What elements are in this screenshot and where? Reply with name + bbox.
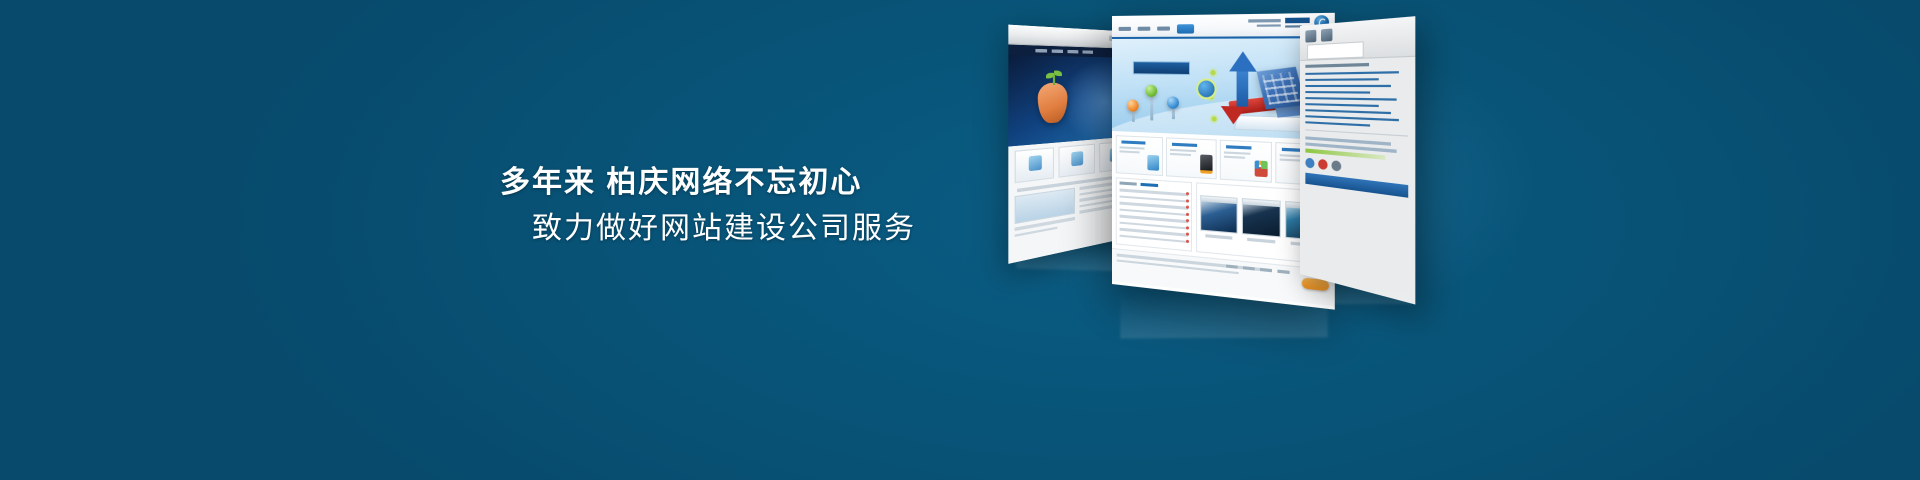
header-slogan bbox=[1248, 19, 1281, 27]
news-tabs bbox=[1120, 181, 1188, 189]
divider bbox=[1305, 129, 1408, 136]
case-item[interactable] bbox=[1242, 198, 1281, 243]
right-heading bbox=[1305, 63, 1369, 67]
text-line bbox=[1305, 97, 1396, 101]
hand-icon bbox=[1038, 83, 1068, 124]
down-arrow-icon bbox=[1221, 106, 1246, 125]
right-body bbox=[1300, 57, 1415, 204]
text-line bbox=[1305, 84, 1391, 87]
orange-globe-icon bbox=[1127, 99, 1139, 111]
badge-icon bbox=[1196, 78, 1217, 99]
news-tab[interactable] bbox=[1120, 181, 1137, 185]
phone-icon bbox=[1200, 154, 1212, 173]
headline-block: 多年来 柏庆网络不忘初心 致力做好网站建设公司服务 bbox=[500, 165, 1060, 247]
text-line bbox=[1305, 115, 1399, 122]
feature-card[interactable] bbox=[1166, 137, 1216, 179]
footer-link[interactable] bbox=[1277, 270, 1289, 274]
text-line bbox=[1305, 103, 1378, 107]
product-card[interactable] bbox=[1059, 144, 1095, 178]
text-line bbox=[1305, 71, 1399, 75]
blue-chip-icon bbox=[1305, 158, 1314, 169]
footer-link[interactable] bbox=[1243, 266, 1255, 270]
case-caption bbox=[1247, 238, 1275, 243]
nav-item-2[interactable] bbox=[1138, 27, 1151, 31]
news-item[interactable] bbox=[1120, 189, 1188, 196]
gray-chip-icon bbox=[1331, 160, 1341, 172]
feature-card[interactable] bbox=[1219, 140, 1271, 183]
globe-stand bbox=[1132, 111, 1135, 122]
text-line bbox=[1305, 78, 1378, 81]
folder-icon bbox=[1148, 155, 1160, 171]
screen-showcase bbox=[1000, 0, 1500, 340]
text-line bbox=[1305, 91, 1370, 94]
right-logo-box bbox=[1307, 41, 1364, 59]
node-dot-icon bbox=[1211, 116, 1216, 121]
calendar-icon bbox=[1305, 30, 1316, 43]
case-caption bbox=[1205, 234, 1232, 239]
globe-stand bbox=[1150, 96, 1153, 121]
nav-item-3[interactable] bbox=[1157, 26, 1170, 30]
right-header-icons bbox=[1305, 28, 1332, 42]
hero-title-plate bbox=[1133, 61, 1190, 75]
node-dot-icon bbox=[1210, 70, 1215, 75]
left-nav-item[interactable] bbox=[1052, 49, 1063, 53]
text-line bbox=[1305, 109, 1391, 114]
case-thumbnail bbox=[1242, 198, 1281, 237]
blue-globe-icon bbox=[1167, 96, 1179, 109]
news-panel bbox=[1116, 177, 1192, 251]
sprout-leaf-icon bbox=[1049, 71, 1058, 86]
feature-card[interactable] bbox=[1116, 135, 1164, 176]
left-nav-item[interactable] bbox=[1083, 50, 1093, 53]
data-cube-icon bbox=[1257, 67, 1306, 110]
footer-link[interactable] bbox=[1260, 268, 1272, 272]
right-screen-mockup[interactable] bbox=[1300, 16, 1415, 304]
left-nav-item[interactable] bbox=[1067, 50, 1078, 54]
globe-stand bbox=[1172, 108, 1175, 119]
headline-line-1: 多年来 柏庆网络不忘初心 bbox=[500, 165, 1060, 200]
left-nav-item[interactable] bbox=[1035, 49, 1047, 53]
hero-banner: 多年来 柏庆网络不忘初心 致力做好网站建设公司服务 bbox=[0, 0, 1920, 480]
up-arrow-stem bbox=[1237, 70, 1249, 106]
green-globe-icon bbox=[1145, 85, 1157, 97]
grid-icon bbox=[1254, 160, 1267, 177]
nav-item-active[interactable] bbox=[1177, 24, 1194, 33]
case-item[interactable] bbox=[1200, 195, 1237, 239]
up-arrow-icon bbox=[1229, 51, 1257, 71]
nav-item-1[interactable] bbox=[1119, 27, 1131, 31]
case-thumbnail bbox=[1200, 195, 1237, 234]
text-line bbox=[1305, 121, 1370, 127]
site-nav bbox=[1119, 24, 1194, 34]
headline-line-2: 致力做好网站建设公司服务 bbox=[532, 211, 1060, 246]
news-tab-active[interactable] bbox=[1141, 183, 1159, 187]
news-item[interactable] bbox=[1120, 234, 1188, 243]
footer-link[interactable] bbox=[1226, 264, 1238, 268]
red-chip-icon bbox=[1318, 159, 1327, 170]
document-icon bbox=[1321, 28, 1332, 41]
